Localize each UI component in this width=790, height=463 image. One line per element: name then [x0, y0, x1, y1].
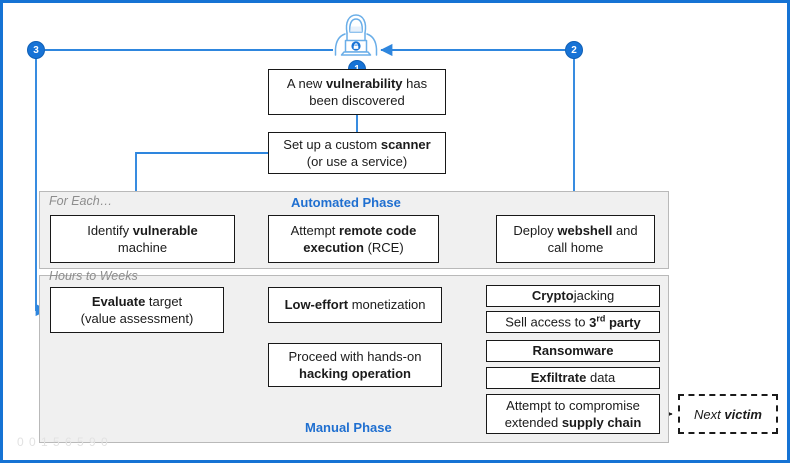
sell-text-party: party	[605, 315, 640, 330]
webshell-text-b: and	[612, 223, 637, 238]
vuln-text-a: A new	[287, 76, 326, 91]
identify-text-a: Identify	[87, 223, 133, 238]
node-supply-chain: Attempt to compromise extended supply ch…	[486, 394, 660, 434]
hacker-laptop-icon	[325, 11, 387, 63]
loweffort-text-bold: Low-effort	[285, 297, 349, 312]
hours-to-weeks-caption: Hours to Weeks	[49, 269, 138, 283]
rce-text-line2-plain: (RCE)	[364, 240, 404, 255]
node-next-victim: Next victim	[678, 394, 778, 434]
node-low-effort-monetization: Low-effort monetization	[268, 287, 442, 323]
manual-phase-title: Manual Phase	[305, 420, 392, 435]
scanner-text-a: Set up a custom	[283, 137, 381, 152]
webshell-text-line2: call home	[548, 240, 604, 255]
node-hands-on-hacking: Proceed with hands-on hacking operation	[268, 343, 442, 387]
for-each-caption: For Each…	[49, 194, 112, 208]
ransomware-text: Ransomware	[533, 342, 614, 359]
rce-text-a: Attempt	[291, 223, 339, 238]
exfil-text-bold: Exfiltrate	[531, 370, 587, 385]
rce-text-bold: remote code	[339, 223, 416, 238]
badge-2: 2	[565, 41, 583, 59]
node-remote-code-execution: Attempt remote code execution (RCE)	[268, 215, 439, 263]
scanner-text-line2: (or use a service)	[307, 154, 407, 169]
supply-text-line1: Attempt to compromise	[506, 398, 640, 413]
sell-text-a: Sell access to	[505, 315, 589, 330]
next-victim-plain: Next	[694, 407, 724, 422]
diagram-canvas: For Each… Hours to Weeks Automated Phase…	[3, 3, 787, 460]
vuln-text-line2: been discovered	[309, 93, 404, 108]
node-deploy-webshell: Deploy webshell and call home	[496, 215, 655, 263]
identify-text-line2: machine	[118, 240, 167, 255]
identify-text-bold: vulnerable	[133, 223, 198, 238]
crypto-text-plain: jacking	[574, 288, 614, 303]
node-new-vulnerability: A new vulnerability has been discovered	[268, 69, 446, 115]
loweffort-text-plain: monetization	[348, 297, 425, 312]
node-exfiltrate-data: Exfiltrate data	[486, 367, 660, 389]
supply-text-line2-plain: extended	[505, 415, 562, 430]
supply-text-line2-bold: supply chain	[562, 415, 641, 430]
rce-text-line2-bold: execution	[303, 240, 364, 255]
crypto-text-bold: Crypto	[532, 288, 574, 303]
next-victim-bold: victim	[724, 407, 762, 422]
node-sell-access-third-party: Sell access to 3rd party	[486, 311, 660, 333]
watermark: 0 0 1 5 6 5 9 0	[17, 435, 109, 449]
node-identify-vulnerable-machine: Identify vulnerable machine	[50, 215, 235, 263]
node-evaluate-target: Evaluate target (value assessment)	[50, 287, 224, 333]
badge-3: 3	[27, 41, 45, 59]
webshell-text-bold: webshell	[557, 223, 612, 238]
webshell-text-a: Deploy	[513, 223, 557, 238]
node-ransomware: Ransomware	[486, 340, 660, 362]
diagram-root: For Each… Hours to Weeks Automated Phase…	[0, 0, 790, 463]
evaluate-text-line2: (value assessment)	[81, 311, 194, 326]
exfil-text-plain: data	[586, 370, 615, 385]
proceed-text-line1: Proceed with hands-on	[289, 349, 422, 364]
automated-phase-title: Automated Phase	[291, 195, 401, 210]
evaluate-text-bold: Evaluate	[92, 294, 145, 309]
vuln-text-b: has	[403, 76, 428, 91]
vuln-text-bold: vulnerability	[326, 76, 403, 91]
node-setup-scanner: Set up a custom scanner (or use a servic…	[268, 132, 446, 174]
scanner-text-bold: scanner	[381, 137, 431, 152]
sell-text-sup: rd	[596, 313, 605, 323]
node-cryptojacking: Cryptojacking	[486, 285, 660, 307]
evaluate-text-plain: target	[145, 294, 182, 309]
proceed-text-line2-bold: hacking operation	[299, 366, 411, 381]
